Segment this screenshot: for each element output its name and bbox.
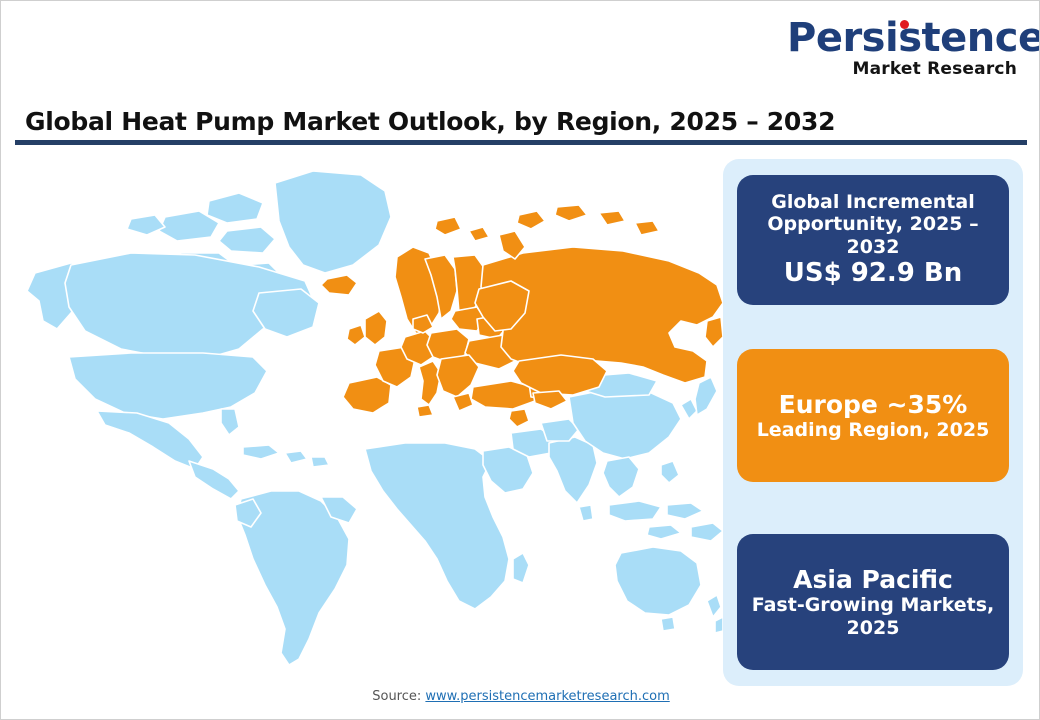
title-divider <box>15 140 1027 145</box>
card-3-label-line-2: 2025 <box>847 617 900 639</box>
source-line: Source: www.persistencemarketresearch.co… <box>1 689 1040 704</box>
card-1-line-2: Opportunity, 2025 – 2032 <box>747 213 999 258</box>
world-map-svg <box>13 161 723 671</box>
card-3-label-line-1: Fast-Growing Markets, <box>752 594 995 616</box>
source-url-link[interactable]: www.persistencemarketresearch.com <box>425 689 669 704</box>
card-1-value: US$ 92.9 Bn <box>784 258 963 289</box>
logo-red-dot-icon <box>900 20 909 29</box>
card-leading-region: Europe ~35% Leading Region, 2025 <box>737 349 1009 482</box>
card-fast-growing-region: Asia Pacific Fast-Growing Markets, 2025 <box>737 534 1009 670</box>
map-base-regions <box>27 171 723 665</box>
source-label: Source: <box>372 689 425 704</box>
logo-wordmark: Persistence <box>787 17 1040 59</box>
card-global-incremental-opportunity: Global Incremental Opportunity, 2025 – 2… <box>737 175 1009 305</box>
page-title: Global Heat Pump Market Outlook, by Regi… <box>25 107 835 136</box>
company-logo: Persistence Market Research <box>787 17 1017 79</box>
infographic-page: Persistence Market Research Global Heat … <box>0 0 1040 720</box>
world-map <box>13 161 723 671</box>
card-2-label: Leading Region, 2025 <box>757 419 990 441</box>
card-1-line-1: Global Incremental <box>771 191 974 213</box>
logo-tagline: Market Research <box>787 59 1017 79</box>
card-3-value: Asia Pacific <box>793 565 953 595</box>
card-2-value: Europe ~35% <box>779 390 968 420</box>
stats-panel: Global Incremental Opportunity, 2025 – 2… <box>723 159 1023 686</box>
